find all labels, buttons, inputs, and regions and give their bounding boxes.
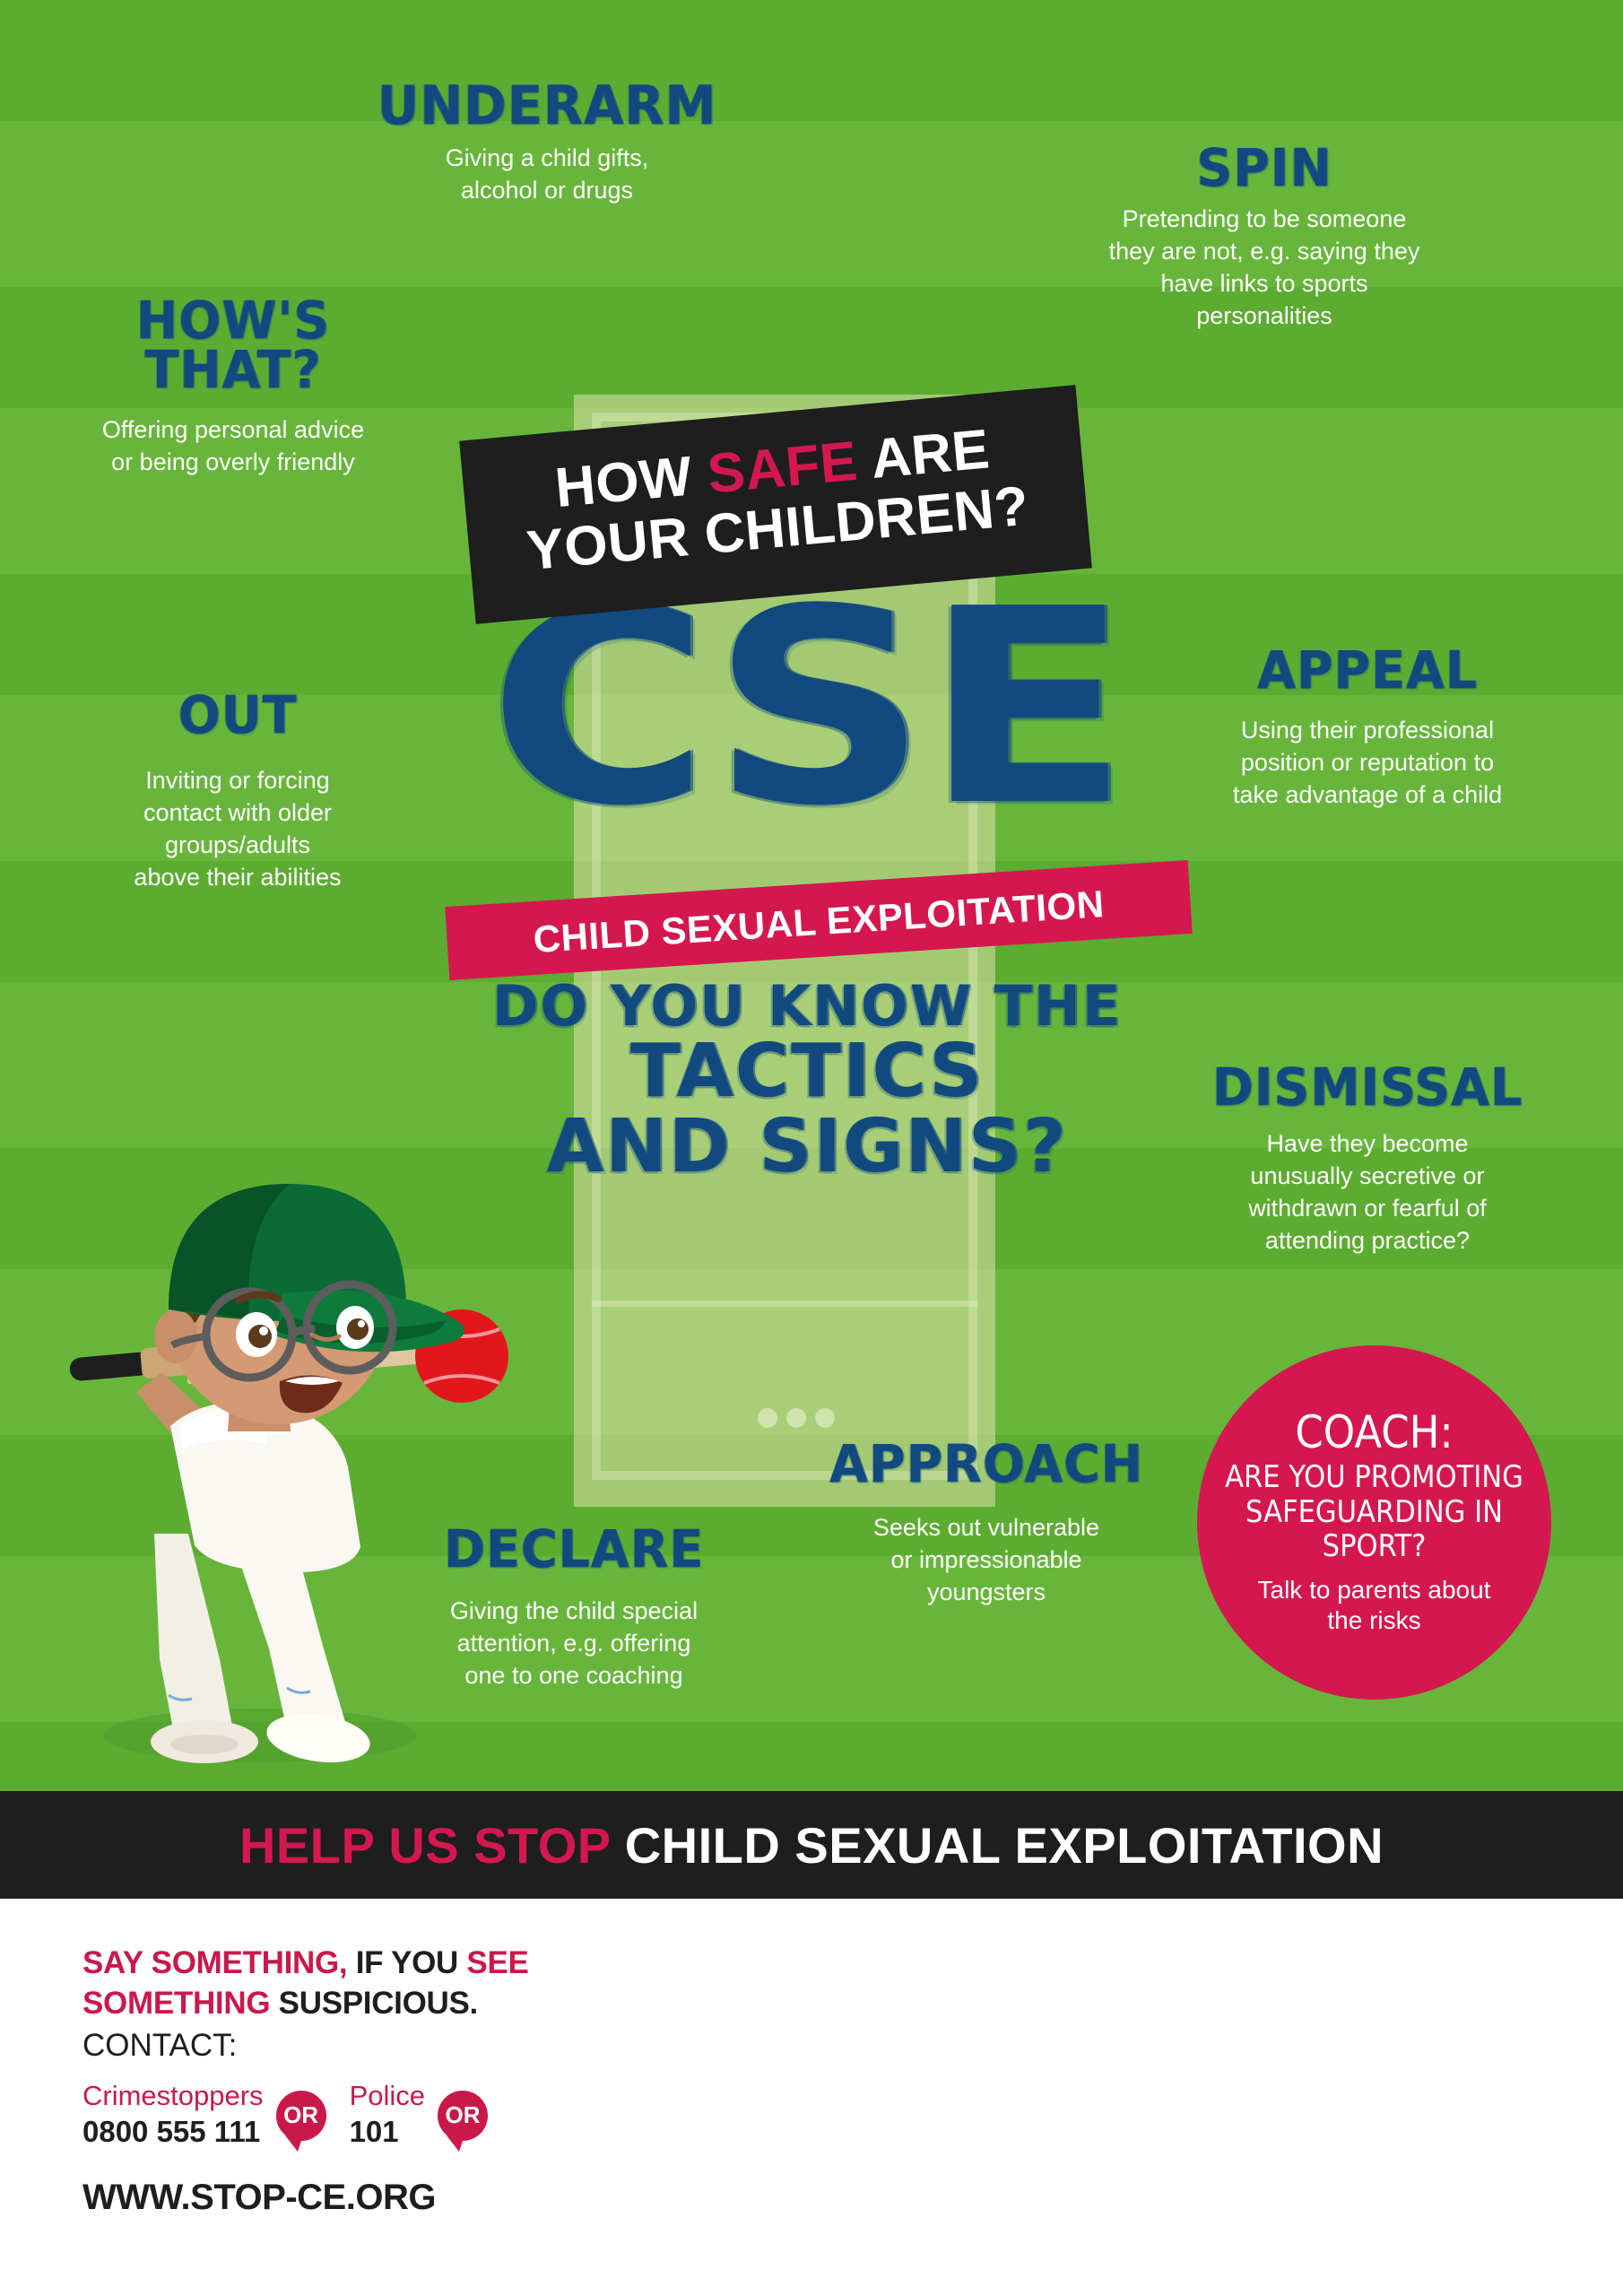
- coach-question: ARE YOU PROMOTING SAFEGUARDING IN SPORT?: [1225, 1460, 1523, 1564]
- poster-root: UNDERARM Giving a child gifts, alcohol o…: [0, 0, 1623, 2296]
- footer-headline: SAY SOMETHING, IF YOU SEE SOMETHING SUSP…: [82, 1944, 638, 2024]
- tactic-appeal: APPEAL Using their professional position…: [1157, 646, 1578, 812]
- tactic-appeal-heading: APPEAL: [1144, 646, 1591, 695]
- crimestoppers-number: 0800 555 111: [82, 2115, 264, 2149]
- footer-contact-label: CONTACT:: [82, 2026, 638, 2066]
- coach-label: COACH:: [1295, 1410, 1453, 1455]
- tactic-dismissal-body: Have they become unusually secretive or …: [1157, 1128, 1578, 1257]
- cse-acronym: CSE: [425, 574, 1188, 870]
- tactic-underarm: UNDERARM Giving a child gifts, alcohol o…: [359, 81, 735, 207]
- help-us-stop-text: HELP US STOP CHILD SEXUAL EXPLOITATION: [239, 1816, 1384, 1874]
- footer-contact-block: SAY SOMETHING, IF YOU SEE SOMETHING SUSP…: [82, 1944, 638, 2218]
- tactic-approach: APPROACH Seeks out vulnerable or impress…: [771, 1439, 1202, 1609]
- tactic-spin: SPIN Pretending to be someone they are n…: [1022, 143, 1506, 333]
- tactic-hows-that-heading: HOW'S THAT?: [5, 296, 462, 395]
- footer-phone-row: Crimestoppers 0800 555 111 OR Police 101…: [82, 2082, 638, 2148]
- footer-headline-if-you: IF YOU: [347, 1945, 466, 1980]
- or-bubble-label-2: OR: [446, 2101, 481, 2129]
- police-label: Police: [350, 2082, 425, 2111]
- tactic-out-heading: OUT: [33, 691, 442, 740]
- question-line-3: AND SIGNS?: [430, 1109, 1184, 1185]
- coach-callout-circle: COACH: ARE YOU PROMOTING SAFEGUARDING IN…: [1197, 1345, 1551, 1700]
- tactic-out-body: Inviting or forcing contact with older g…: [45, 765, 430, 894]
- police-number: 101: [350, 2115, 425, 2149]
- footer-headline-suspicious: SUSPICIOUS.: [270, 1986, 478, 2021]
- tactic-dismissal-heading: DISMISSAL: [1144, 1063, 1591, 1112]
- tactic-appeal-body: Using their professional position or rep…: [1157, 715, 1578, 812]
- footer-website-link[interactable]: WWW.STOP-CE.ORG: [82, 2178, 638, 2218]
- tactic-approach-body: Seeks out vulnerable or impressionable y…: [771, 1512, 1202, 1609]
- tactic-spin-heading: SPIN: [1008, 143, 1521, 193]
- tactic-out: OUT Inviting or forcing contact with old…: [45, 691, 430, 894]
- help-us-stop-rest: CHILD SEXUAL EXPLOITATION: [611, 1817, 1384, 1874]
- tactic-approach-heading: APPROACH: [759, 1439, 1215, 1489]
- or-bubble-icon-2: OR: [438, 2091, 488, 2141]
- cricketer-illustration: [54, 1157, 520, 1785]
- question-line-2: TACTICS: [430, 1034, 1184, 1109]
- or-bubble-icon-1: OR: [276, 2091, 326, 2141]
- help-us-stop-highlight: HELP US STOP: [239, 1817, 611, 1874]
- tactic-underarm-body: Giving a child gifts, alcohol or drugs: [359, 143, 735, 207]
- or-bubble-label-1: OR: [283, 2101, 318, 2129]
- question-line-1: DO YOU KNOW THE: [430, 978, 1184, 1034]
- crimestoppers-label: Crimestoppers: [82, 2082, 264, 2111]
- help-us-stop-strip: HELP US STOP CHILD SEXUAL EXPLOITATION: [0, 1791, 1623, 1899]
- footer-headline-see: SEE: [466, 1945, 528, 1980]
- footer-headline-say-something: SAY SOMETHING,: [82, 1945, 347, 1980]
- tactic-underarm-heading: UNDERARM: [347, 81, 746, 132]
- tactics-signs-question: DO YOU KNOW THE TACTICS AND SIGNS?: [430, 978, 1184, 1184]
- footer: SAY SOMETHING, IF YOU SEE SOMETHING SUSP…: [0, 1899, 1623, 2296]
- title-banner-text: HOW SAFE ARE YOUR CHILDREN?: [462, 412, 1089, 587]
- footer-headline-something: SOMETHING: [82, 1986, 270, 2021]
- pitch-background: UNDERARM Giving a child gifts, alcohol o…: [0, 0, 1623, 1791]
- tactic-hows-that: HOW'S THAT? Offering personal advice or …: [18, 296, 448, 479]
- tactic-hows-that-body: Offering personal advice or being overly…: [18, 414, 448, 479]
- tactic-dismissal: DISMISSAL Have they become unusually sec…: [1157, 1063, 1578, 1257]
- wicket-crease-line: [592, 1300, 977, 1307]
- police-block[interactable]: Police 101: [350, 2082, 425, 2148]
- tactic-spin-body: Pretending to be someone they are not, e…: [1022, 204, 1506, 333]
- crimestoppers-block[interactable]: Crimestoppers 0800 555 111: [82, 2082, 264, 2148]
- coach-subtext: Talk to parents about the risks: [1258, 1575, 1491, 1635]
- wicket-stumps-dots: [758, 1408, 835, 1428]
